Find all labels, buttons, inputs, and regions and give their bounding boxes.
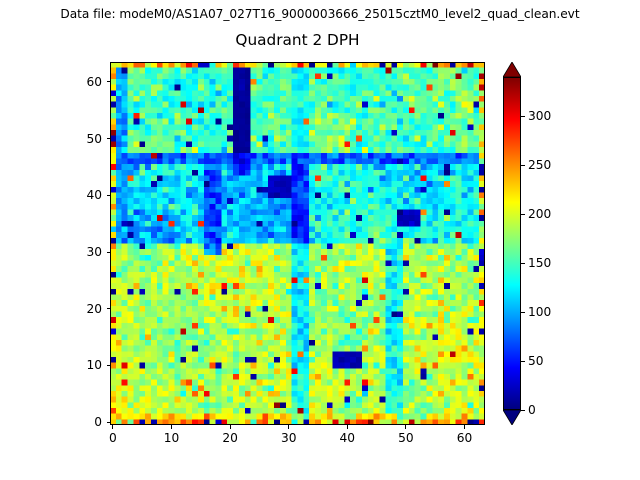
y-tick-mark <box>107 138 111 139</box>
y-tick-label: 20 <box>62 302 102 316</box>
y-tick-mark <box>107 365 111 366</box>
x-tick-mark <box>230 425 231 429</box>
colorbar-tick-label: 0 <box>528 403 536 417</box>
colorbar-tick-mark <box>521 263 525 264</box>
colorbar-gradient <box>503 77 521 410</box>
plot-title: Quadrant 2 DPH <box>110 31 485 49</box>
x-tick-mark <box>288 425 289 429</box>
x-tick-mark <box>405 425 406 429</box>
colorbar-tick-mark <box>521 165 525 166</box>
colorbar-tick-label: 150 <box>528 256 551 270</box>
y-tick-mark <box>107 422 111 423</box>
colorbar-tick-mark <box>521 410 525 411</box>
y-tick-label: 40 <box>62 188 102 202</box>
colorbar-tick-label: 300 <box>528 109 551 123</box>
y-tick-label: 10 <box>62 358 102 372</box>
y-tick-mark <box>107 195 111 196</box>
y-tick-label: 60 <box>62 75 102 89</box>
colorbar-over-arrow <box>503 62 521 77</box>
x-tick-label: 10 <box>164 431 180 445</box>
y-tick-mark <box>107 308 111 309</box>
colorbar: 050100150200250300 <box>503 62 521 425</box>
x-tick-label: 20 <box>222 431 238 445</box>
colorbar-tick-label: 250 <box>528 158 551 172</box>
dph-heatmap-image <box>110 62 485 425</box>
colorbar-tick-mark <box>521 214 525 215</box>
x-tick-mark <box>347 425 348 429</box>
colorbar-body: 050100150200250300 <box>503 77 521 410</box>
y-tick-label: 0 <box>62 415 102 429</box>
x-tick-label: 30 <box>281 431 297 445</box>
colorbar-tick-mark <box>521 312 525 313</box>
x-tick-label: 0 <box>109 431 117 445</box>
colorbar-tick-label: 200 <box>528 207 551 221</box>
x-tick-mark <box>464 425 465 429</box>
x-tick-label: 60 <box>457 431 473 445</box>
x-tick-label: 50 <box>398 431 414 445</box>
data-file-suptitle: Data file: modeM0/AS1A07_027T16_90000036… <box>0 7 640 21</box>
y-tick-mark <box>107 252 111 253</box>
matplotlib-figure: Data file: modeM0/AS1A07_027T16_90000036… <box>0 0 640 480</box>
y-tick-label: 50 <box>62 132 102 146</box>
y-tick-label: 30 <box>62 245 102 259</box>
x-tick-label: 40 <box>340 431 356 445</box>
colorbar-tick-mark <box>521 361 525 362</box>
x-tick-mark <box>171 425 172 429</box>
colorbar-under-arrow <box>503 410 521 425</box>
x-tick-mark <box>112 425 113 429</box>
colorbar-tick-mark <box>521 116 525 117</box>
heatmap-axes <box>110 62 485 425</box>
y-tick-mark <box>107 81 111 82</box>
colorbar-tick-label: 50 <box>528 354 544 368</box>
colorbar-tick-label: 100 <box>528 305 551 319</box>
